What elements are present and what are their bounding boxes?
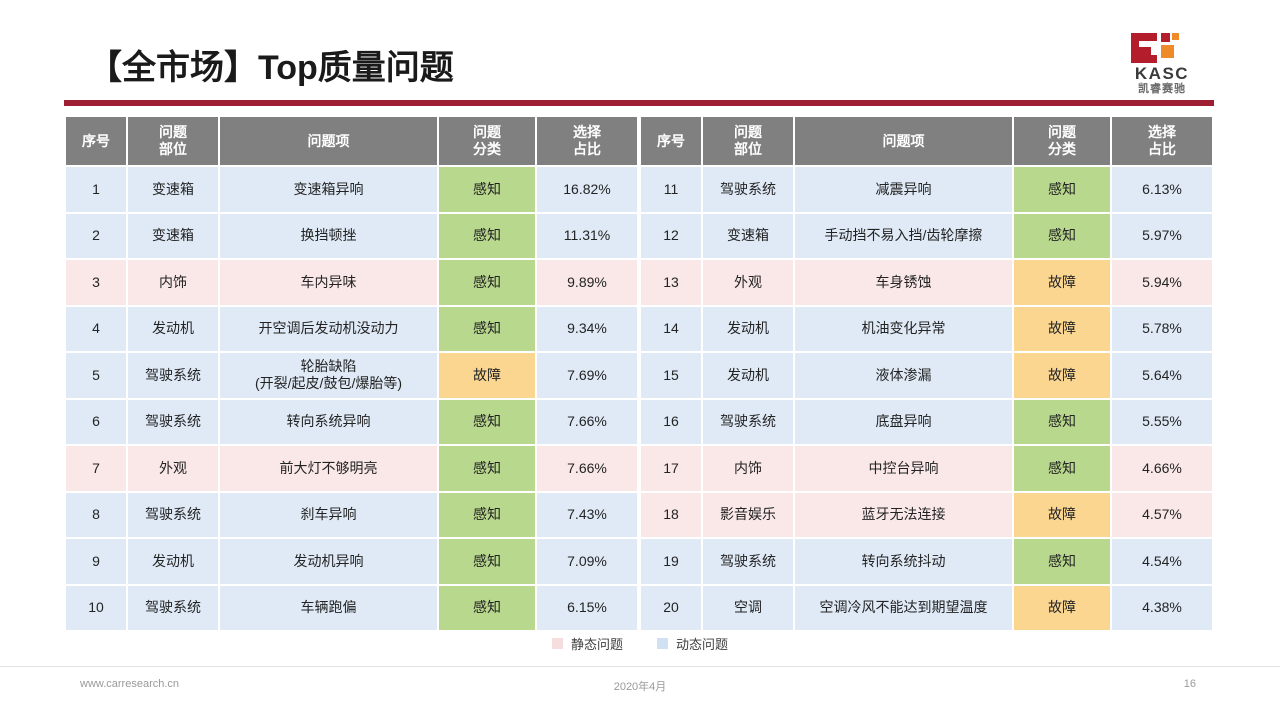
- cell-part: 内饰: [127, 259, 219, 306]
- cell-part: 外观: [127, 445, 219, 492]
- cell-item: 底盘异响: [794, 399, 1013, 446]
- table-row: 14发动机机油变化异常故障5.78%: [640, 306, 1213, 353]
- page-title: 【全市场】Top质量问题: [88, 40, 454, 89]
- col-header-part-line1: 问题: [159, 124, 187, 140]
- cell-part: 驾驶系统: [702, 538, 794, 585]
- legend-item-dynamic: 动态问题: [657, 634, 728, 653]
- cell-item: 空调冷风不能达到期望温度: [794, 585, 1013, 632]
- cell-percent: 16.82%: [536, 166, 638, 213]
- cell-category: 感知: [1013, 166, 1111, 213]
- cell-index: 3: [65, 259, 127, 306]
- cell-item: 前大灯不够明亮: [219, 445, 438, 492]
- table-row: 13外观车身锈蚀故障5.94%: [640, 259, 1213, 306]
- cell-percent: 7.43%: [536, 492, 638, 539]
- table-row: 6驾驶系统转向系统异响感知7.66%: [65, 399, 638, 446]
- cell-category: 感知: [438, 306, 536, 353]
- table-row: 5驾驶系统轮胎缺陷(开裂/起皮/鼓包/爆胎等)故障7.69%: [65, 352, 638, 399]
- cell-index: 1: [65, 166, 127, 213]
- cell-index: 17: [640, 445, 702, 492]
- cell-percent: 5.78%: [1111, 306, 1213, 353]
- cell-index: 9: [65, 538, 127, 585]
- quality-table-left: 序号 问题 部位 问题项 问题 分类 选择 占比 1变速箱变: [64, 115, 639, 632]
- col-header-percent: 选择 占比: [1111, 116, 1213, 166]
- col-header-category: 问题 分类: [1013, 116, 1111, 166]
- cell-percent: 11.31%: [536, 213, 638, 260]
- title-divider: [64, 100, 1214, 106]
- cell-item: 车身锈蚀: [794, 259, 1013, 306]
- table-row: 17内饰中控台异响感知4.66%: [640, 445, 1213, 492]
- cell-category: 故障: [1013, 585, 1111, 632]
- table-row: 2变速箱换挡顿挫感知11.31%: [65, 213, 638, 260]
- cell-index: 2: [65, 213, 127, 260]
- legend-label-static: 静态问题: [571, 634, 623, 653]
- cell-item: 刹车异响: [219, 492, 438, 539]
- table-row: 3内饰车内异味感知9.89%: [65, 259, 638, 306]
- cell-category: 感知: [438, 538, 536, 585]
- footer: www.carresearch.cn 2020年4月 16: [0, 666, 1280, 720]
- cell-percent: 4.57%: [1111, 492, 1213, 539]
- cell-part: 发动机: [127, 538, 219, 585]
- cell-index: 19: [640, 538, 702, 585]
- col-header-part-line2: 部位: [159, 141, 187, 157]
- cell-part: 空调: [702, 585, 794, 632]
- cell-item: 换挡顿挫: [219, 213, 438, 260]
- cell-index: 6: [65, 399, 127, 446]
- cell-category: 故障: [1013, 306, 1111, 353]
- cell-item: 变速箱异响: [219, 166, 438, 213]
- cell-category: 感知: [1013, 399, 1111, 446]
- cell-percent: 7.66%: [536, 399, 638, 446]
- cell-part: 驾驶系统: [127, 352, 219, 399]
- table-row: 15发动机液体渗漏故障5.64%: [640, 352, 1213, 399]
- col-header-percent: 选择 占比: [536, 116, 638, 166]
- cell-percent: 6.13%: [1111, 166, 1213, 213]
- legend-swatch-static-icon: [552, 638, 563, 649]
- col-header-percent-line2: 占比: [1148, 141, 1176, 157]
- cell-part: 变速箱: [127, 166, 219, 213]
- cell-percent: 7.69%: [536, 352, 638, 399]
- cell-percent: 9.34%: [536, 306, 638, 353]
- table-row: 10驾驶系统车辆跑偏感知6.15%: [65, 585, 638, 632]
- cell-item: 轮胎缺陷(开裂/起皮/鼓包/爆胎等): [219, 352, 438, 399]
- cell-part: 驾驶系统: [702, 166, 794, 213]
- cell-index: 18: [640, 492, 702, 539]
- cell-percent: 6.15%: [536, 585, 638, 632]
- cell-part: 变速箱: [127, 213, 219, 260]
- cell-part: 驾驶系统: [127, 399, 219, 446]
- cell-index: 7: [65, 445, 127, 492]
- table-row: 1变速箱变速箱异响感知16.82%: [65, 166, 638, 213]
- table-row: 11驾驶系统减震异响感知6.13%: [640, 166, 1213, 213]
- table-body-right: 11驾驶系统减震异响感知6.13%12变速箱手动挡不易入挡/齿轮摩擦感知5.97…: [640, 166, 1213, 631]
- cell-percent: 5.55%: [1111, 399, 1213, 446]
- cell-category: 感知: [438, 399, 536, 446]
- col-header-index: 序号: [65, 116, 127, 166]
- tables-container: 序号 问题 部位 问题项 问题 分类 选择 占比 1变速箱变: [64, 115, 1210, 632]
- legend: 静态问题 动态问题: [0, 634, 1280, 653]
- cell-index: 20: [640, 585, 702, 632]
- cell-item: 中控台异响: [794, 445, 1013, 492]
- logo-mark-icon: [1131, 33, 1193, 63]
- cell-category: 故障: [1013, 492, 1111, 539]
- cell-part: 影音娱乐: [702, 492, 794, 539]
- cell-category: 故障: [1013, 259, 1111, 306]
- table-row: 9发动机发动机异响感知7.09%: [65, 538, 638, 585]
- table-header-row: 序号 问题 部位 问题项 问题 分类 选择 占比: [65, 116, 638, 166]
- cell-item: 减震异响: [794, 166, 1013, 213]
- cell-category: 感知: [1013, 538, 1111, 585]
- cell-part: 发动机: [127, 306, 219, 353]
- cell-index: 10: [65, 585, 127, 632]
- cell-index: 12: [640, 213, 702, 260]
- cell-percent: 4.38%: [1111, 585, 1213, 632]
- legend-swatch-dynamic-icon: [657, 638, 668, 649]
- cell-item: 蓝牙无法连接: [794, 492, 1013, 539]
- cell-part: 发动机: [702, 352, 794, 399]
- cell-index: 11: [640, 166, 702, 213]
- col-header-part-line2: 部位: [734, 141, 762, 157]
- col-header-percent-line1: 选择: [1148, 124, 1176, 140]
- quality-table-right: 序号 问题 部位 问题项 问题 分类 选择 占比 11驾驶系: [639, 115, 1214, 632]
- table-row: 16驾驶系统底盘异响感知5.55%: [640, 399, 1213, 446]
- cell-index: 8: [65, 492, 127, 539]
- cell-category: 故障: [438, 352, 536, 399]
- col-header-part: 问题 部位: [127, 116, 219, 166]
- col-header-percent-line2: 占比: [573, 141, 601, 157]
- table-row: 8驾驶系统刹车异响感知7.43%: [65, 492, 638, 539]
- cell-category: 感知: [1013, 445, 1111, 492]
- cell-category: 感知: [438, 259, 536, 306]
- cell-index: 4: [65, 306, 127, 353]
- col-header-category: 问题 分类: [438, 116, 536, 166]
- cell-item: 发动机异响: [219, 538, 438, 585]
- legend-label-dynamic: 动态问题: [676, 634, 728, 653]
- cell-percent: 7.66%: [536, 445, 638, 492]
- col-header-part-line1: 问题: [734, 124, 762, 140]
- cell-part: 驾驶系统: [702, 399, 794, 446]
- cell-item-line2: (开裂/起皮/鼓包/爆胎等): [222, 375, 435, 392]
- cell-percent: 4.54%: [1111, 538, 1213, 585]
- cell-index: 13: [640, 259, 702, 306]
- table-row: 7外观前大灯不够明亮感知7.66%: [65, 445, 638, 492]
- cell-item: 手动挡不易入挡/齿轮摩擦: [794, 213, 1013, 260]
- cell-item: 车内异味: [219, 259, 438, 306]
- cell-percent: 9.89%: [536, 259, 638, 306]
- table-row: 19驾驶系统转向系统抖动感知4.54%: [640, 538, 1213, 585]
- cell-category: 感知: [438, 585, 536, 632]
- cell-percent: 5.94%: [1111, 259, 1213, 306]
- footer-page-number: 16: [1184, 678, 1196, 690]
- col-header-category-line2: 分类: [473, 141, 501, 157]
- cell-item: 开空调后发动机没动力: [219, 306, 438, 353]
- cell-part: 外观: [702, 259, 794, 306]
- col-header-item: 问题项: [219, 116, 438, 166]
- cell-item-line1: 轮胎缺陷: [222, 358, 435, 375]
- cell-index: 16: [640, 399, 702, 446]
- col-header-part: 问题 部位: [702, 116, 794, 166]
- table-header-row: 序号 问题 部位 问题项 问题 分类 选择 占比: [640, 116, 1213, 166]
- cell-part: 发动机: [702, 306, 794, 353]
- cell-category: 感知: [438, 166, 536, 213]
- cell-part: 驾驶系统: [127, 585, 219, 632]
- cell-category: 感知: [438, 492, 536, 539]
- cell-category: 感知: [438, 213, 536, 260]
- table-row: 20空调空调冷风不能达到期望温度故障4.38%: [640, 585, 1213, 632]
- cell-item: 转向系统抖动: [794, 538, 1013, 585]
- col-header-percent-line1: 选择: [573, 124, 601, 140]
- col-header-index: 序号: [640, 116, 702, 166]
- cell-part: 变速箱: [702, 213, 794, 260]
- table-row: 4发动机开空调后发动机没动力感知9.34%: [65, 306, 638, 353]
- cell-part: 内饰: [702, 445, 794, 492]
- cell-index: 15: [640, 352, 702, 399]
- cell-percent: 7.09%: [536, 538, 638, 585]
- col-header-category-line1: 问题: [473, 124, 501, 140]
- cell-category: 感知: [438, 445, 536, 492]
- footer-date: 2020年4月: [0, 678, 1280, 694]
- cell-index: 5: [65, 352, 127, 399]
- company-logo: KASC 凯睿赛驰: [1102, 33, 1222, 95]
- table-row: 12变速箱手动挡不易入挡/齿轮摩擦感知5.97%: [640, 213, 1213, 260]
- cell-percent: 5.64%: [1111, 352, 1213, 399]
- cell-category: 故障: [1013, 352, 1111, 399]
- table-row: 18影音娱乐蓝牙无法连接故障4.57%: [640, 492, 1213, 539]
- table-body-left: 1变速箱变速箱异响感知16.82%2变速箱换挡顿挫感知11.31%3内饰车内异味…: [65, 166, 638, 631]
- cell-percent: 4.66%: [1111, 445, 1213, 492]
- col-header-category-line1: 问题: [1048, 124, 1076, 140]
- legend-item-static: 静态问题: [552, 634, 623, 653]
- cell-item: 车辆跑偏: [219, 585, 438, 632]
- logo-text-cn: 凯睿赛驰: [1102, 83, 1222, 96]
- cell-item: 液体渗漏: [794, 352, 1013, 399]
- slide-root: 【全市场】Top质量问题 KASC 凯睿赛驰 序号 问题: [0, 0, 1280, 720]
- cell-item: 机油变化异常: [794, 306, 1013, 353]
- logo-text-en: KASC: [1102, 65, 1222, 82]
- cell-item: 转向系统异响: [219, 399, 438, 446]
- cell-index: 14: [640, 306, 702, 353]
- cell-category: 感知: [1013, 213, 1111, 260]
- cell-percent: 5.97%: [1111, 213, 1213, 260]
- col-header-category-line2: 分类: [1048, 141, 1076, 157]
- cell-part: 驾驶系统: [127, 492, 219, 539]
- col-header-item: 问题项: [794, 116, 1013, 166]
